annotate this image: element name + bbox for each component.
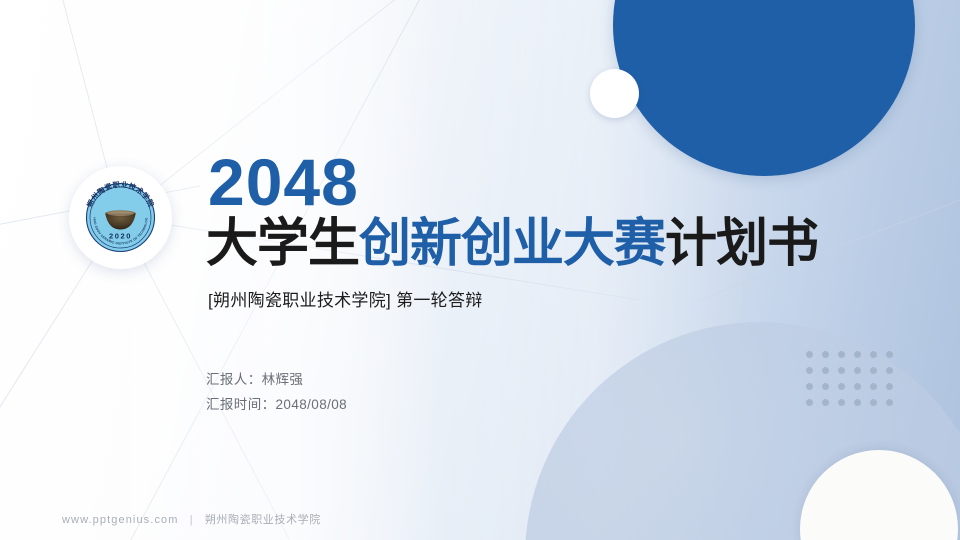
footer-separator: | [190, 514, 194, 526]
svg-text:2020: 2020 [109, 232, 132, 241]
school-logo: 2020 朔州陶瓷职业技术学院 SHUO ZHOU CERAMIC INSTIT… [78, 175, 163, 260]
dot-grid-decoration [806, 351, 902, 415]
footer-school-name: 朔州陶瓷职业技术学院 [205, 514, 321, 526]
footer-website[interactable]: www.pptgenius.com [62, 514, 179, 526]
presenter-line: 汇报人：林辉强 [206, 368, 347, 393]
title-part-2-highlight: 创新创业大赛 [359, 215, 665, 273]
presentation-meta: 汇报人：林辉强 汇报时间：2048/08/08 [206, 368, 347, 418]
page-title: 大学生创新创业大赛计划书 [206, 217, 846, 272]
title-text-block: 2048 大学生创新创业大赛计划书 [朔州陶瓷职业技术学院] 第一轮答辩 [206, 150, 846, 311]
footer: www.pptgenius.com | 朔州陶瓷职业技术学院 [62, 511, 321, 527]
small-white-circle [590, 69, 639, 118]
subtitle: [朔州陶瓷职业技术学院] 第一轮答辩 [208, 286, 846, 311]
school-emblem-icon: 2020 朔州陶瓷职业技术学院 SHUO ZHOU CERAMIC INSTIT… [78, 175, 163, 260]
title-part-1: 大学生 [206, 215, 359, 273]
title-slide: 2020 朔州陶瓷职业技术学院 SHUO ZHOU CERAMIC INSTIT… [0, 0, 960, 540]
date-line: 汇报时间：2048/08/08 [206, 393, 347, 418]
year-heading: 2048 [208, 150, 846, 215]
title-part-3: 计划书 [665, 215, 818, 273]
